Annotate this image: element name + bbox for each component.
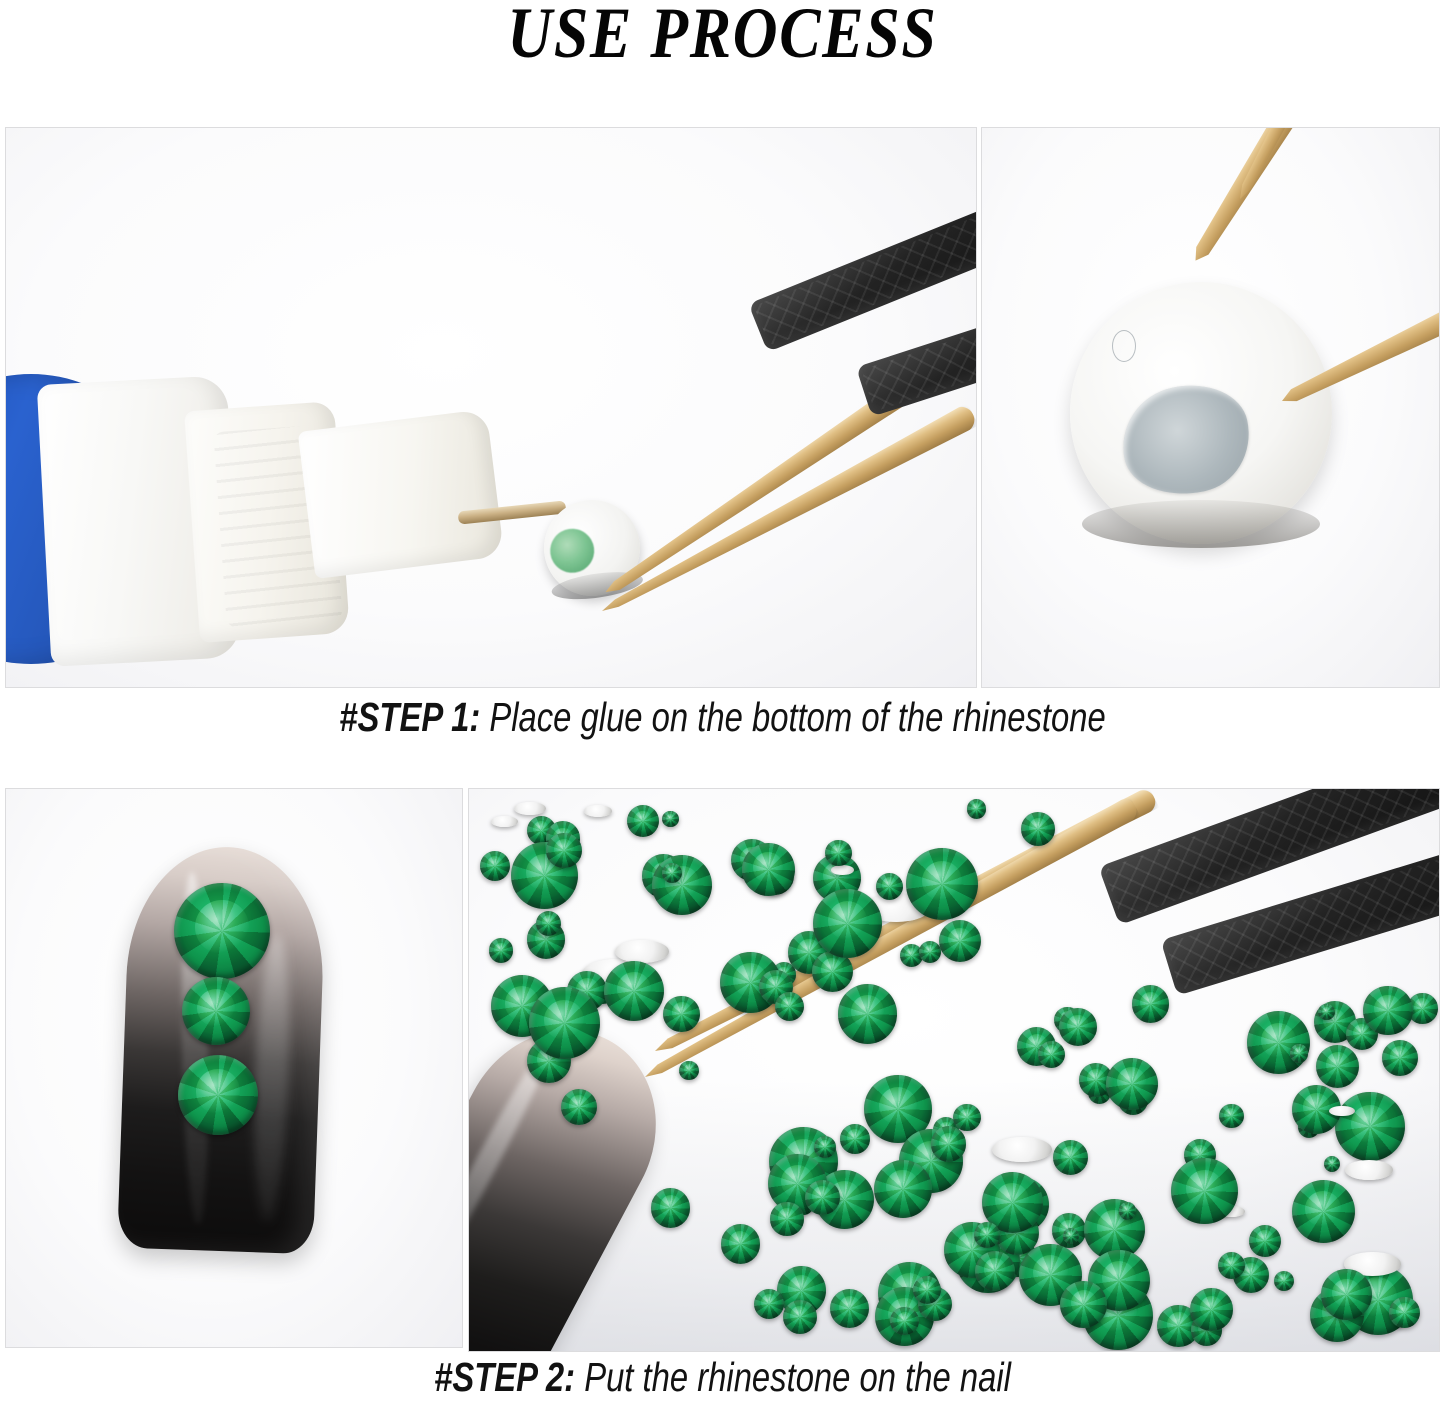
photo-background <box>6 789 462 1347</box>
rhinestone-green <box>679 1061 699 1081</box>
step-1-photo-rhinestone-closeup <box>981 127 1440 688</box>
rhinestone-green <box>775 992 804 1021</box>
rhinestone-green <box>651 1188 690 1227</box>
tweezer-arm-left-inner-icon <box>1230 127 1381 204</box>
rhinestone-green <box>783 1300 817 1334</box>
page-title: USE PROCESS <box>101 0 1344 72</box>
rhinestone-flatback <box>1070 282 1332 544</box>
rhinestone-green <box>1106 1058 1158 1110</box>
flatback-silver-stone <box>1345 1160 1394 1180</box>
rhinestone-green <box>919 941 941 963</box>
flatback-silver-stone <box>514 802 545 815</box>
step-2-photo-finished-nail <box>5 788 463 1348</box>
nail-rhinestone-2 <box>182 977 250 1045</box>
glue-smear <box>1112 374 1260 506</box>
rhinestone-green <box>1171 1158 1238 1225</box>
rhinestone-green <box>805 1180 840 1215</box>
rhinestone-green <box>967 799 986 818</box>
rhinestone-green <box>1292 1180 1355 1243</box>
rhinestone-green <box>830 1289 869 1328</box>
rhinestone-green <box>974 1222 1000 1248</box>
rhinestone-green <box>840 1124 870 1154</box>
rhinestone-green <box>1219 1104 1244 1129</box>
photo-background <box>6 128 976 687</box>
step-1-label: #STEP 1: <box>339 694 480 740</box>
photo-background <box>982 128 1439 687</box>
rhinestone-green <box>874 1160 932 1218</box>
step-1-caption: #STEP 1: Place glue on the bottom of the… <box>145 694 1301 741</box>
rhinestone-green <box>890 1307 919 1336</box>
step-2-text: Put the rhinestone on the nail <box>575 1354 1011 1400</box>
flatback-silver-stone <box>491 816 518 827</box>
glue-bottle-tip <box>298 409 505 579</box>
nail-rhinestone-3 <box>178 1055 258 1135</box>
tweezer-arm-left-icon <box>1183 127 1367 269</box>
rhinestone-green <box>939 920 981 962</box>
flatback-silver-stone <box>584 805 613 817</box>
rhinestone-green <box>721 1224 761 1264</box>
rhinestone-green <box>529 987 601 1059</box>
rhinestone-green <box>489 938 514 963</box>
rhinestone-green <box>1053 1140 1088 1175</box>
step-2-photo-scattered-rhinestones <box>468 788 1440 1352</box>
rhinestone-green <box>1389 1297 1420 1328</box>
rhinestone-green <box>1021 812 1055 846</box>
nail-highlight-secondary <box>250 934 294 1221</box>
step-2-label: #STEP 2: <box>434 1354 575 1400</box>
rhinestone-green <box>546 833 582 869</box>
rhinestone-green <box>953 1104 981 1132</box>
rhinestone-green <box>1274 1271 1294 1291</box>
photo-background <box>469 789 1439 1351</box>
held-nail-rhinestone-3 <box>561 1089 597 1125</box>
step-2-caption: #STEP 2: Put the rhinestone on the nail <box>145 1354 1301 1401</box>
rhinestone-green <box>813 889 883 959</box>
step-1-text: Place glue on the bottom of the rhinesto… <box>480 694 1105 740</box>
tweezer-arm-lower-icon <box>639 795 1140 1087</box>
rhinestone-green <box>770 1202 803 1235</box>
rhinestone-green <box>1038 1041 1065 1068</box>
nail-rhinestone-1 <box>174 883 270 979</box>
flatback-silver-stone <box>992 1137 1051 1162</box>
tweezer-grip-upper <box>748 169 977 352</box>
rhinestone-green <box>1321 1269 1372 1320</box>
rhinestone-green <box>931 1126 967 1162</box>
step-1-photo-glue-bottle <box>5 127 977 688</box>
rhinestone-green <box>1382 1040 1418 1076</box>
rhinestone-green <box>1290 1044 1309 1063</box>
rhinestone-green <box>1247 1011 1310 1074</box>
rhinestone-green <box>825 840 852 867</box>
rhinestone-green <box>814 1136 836 1158</box>
rhinestone-green <box>652 855 712 915</box>
rhinestone-green <box>1132 985 1170 1023</box>
rhinestone-green <box>627 805 659 837</box>
rhinestone-green <box>1318 1004 1335 1021</box>
rhinestone-green <box>876 873 903 900</box>
glue-blob <box>547 526 597 576</box>
rhinestone-green <box>662 811 679 828</box>
rhinestone-green <box>1363 986 1413 1036</box>
rhinestone-green <box>1335 1092 1404 1161</box>
rhinestone-green <box>906 848 978 920</box>
rhinestone-green <box>1119 1202 1137 1220</box>
rhinestone-green <box>1059 1008 1097 1046</box>
rhinestone-green <box>604 961 665 1022</box>
rhinestone-green <box>480 851 510 881</box>
rhinestone-green <box>838 984 897 1043</box>
rhinestone-green <box>1190 1288 1233 1331</box>
tweezer-arm-lower-icon <box>596 402 977 622</box>
glue-bubble <box>1112 330 1136 362</box>
flatback-silver-stone <box>615 940 669 963</box>
rhinestone-edge <box>1082 500 1320 548</box>
rhinestone-green <box>1249 1225 1281 1257</box>
